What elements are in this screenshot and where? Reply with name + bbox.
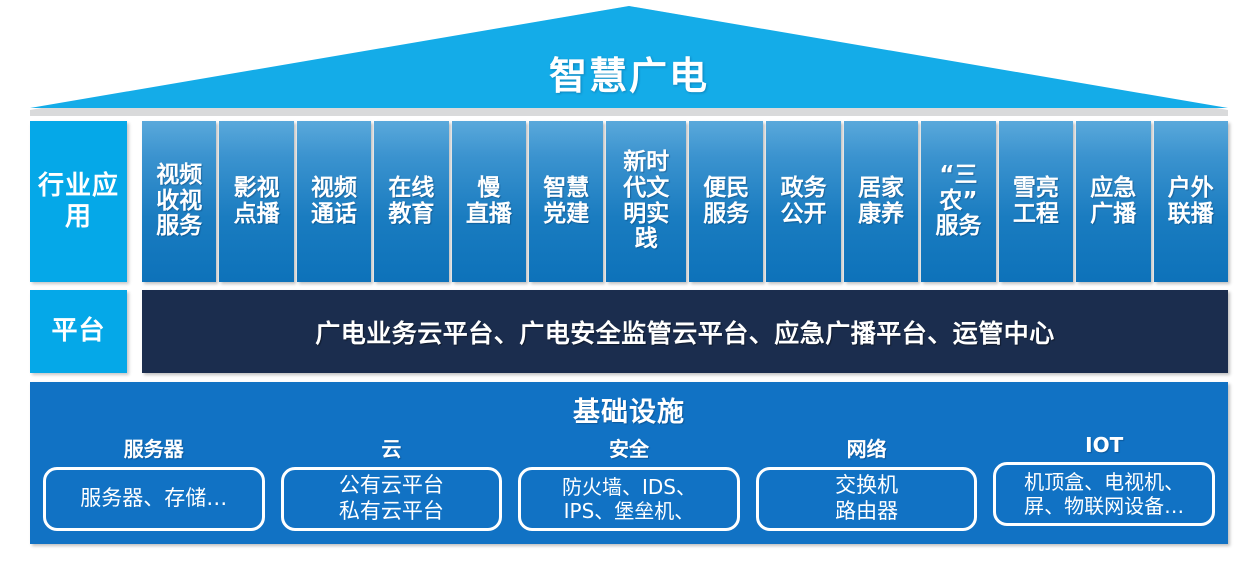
application-cell[interactable]: 在线教育: [374, 121, 448, 282]
applications-row: 行业应用 视频收视服务影视点播视频通话在线教育慢直播智慧党建新时代文明实践便民服…: [30, 121, 1228, 282]
platform-content: 广电业务云平台、广电安全监管云平台、应急广播平台、运管中心: [142, 290, 1228, 373]
architecture-diagram: 智慧广电 行业应用 视频收视服务影视点播视频通话在线教育慢直播智慧党建新时代文明…: [0, 0, 1258, 561]
application-cell[interactable]: 影视点播: [219, 121, 293, 282]
roof-title: 智慧广电: [30, 56, 1228, 98]
roof-shape: 智慧广电: [30, 6, 1228, 116]
application-cell[interactable]: “三农”服务: [921, 121, 995, 282]
infrastructure-column-title: 云: [281, 433, 503, 462]
infrastructure-columns: 服务器服务器、存储…云公有云平台私有云平台安全防火墙、IDS、IPS、堡垒机、网…: [30, 429, 1228, 531]
application-cells: 视频收视服务影视点播视频通话在线教育慢直播智慧党建新时代文明实践便民服务政务公开…: [142, 121, 1228, 282]
infrastructure-column-title: IOT: [993, 433, 1215, 457]
infrastructure-panel: 基础设施 服务器服务器、存储…云公有云平台私有云平台安全防火墙、IDS、IPS、…: [30, 382, 1228, 544]
infrastructure-column: IOT机顶盒、电视机、屏、物联网设备…: [993, 433, 1215, 526]
platform-row-label: 平台: [30, 290, 127, 373]
infrastructure-box[interactable]: 公有云平台私有云平台: [281, 467, 503, 531]
application-cell[interactable]: 慢直播: [452, 121, 526, 282]
application-cell[interactable]: 新时代文明实践: [606, 121, 686, 282]
platform-row: 平台 广电业务云平台、广电安全监管云平台、应急广播平台、运管中心: [30, 290, 1228, 373]
infrastructure-column-title: 服务器: [43, 433, 265, 462]
infrastructure-title: 基础设施: [30, 382, 1228, 429]
infrastructure-box[interactable]: 防火墙、IDS、IPS、堡垒机、: [518, 467, 740, 531]
infrastructure-column: 服务器服务器、存储…: [43, 433, 265, 531]
infrastructure-column: 云公有云平台私有云平台: [281, 433, 503, 531]
infrastructure-column-title: 安全: [518, 433, 740, 462]
application-cell[interactable]: 雪亮工程: [999, 121, 1073, 282]
application-cell[interactable]: 户外联播: [1154, 121, 1228, 282]
infrastructure-box[interactable]: 机顶盒、电视机、屏、物联网设备…: [993, 462, 1215, 526]
application-cell[interactable]: 居家康养: [844, 121, 918, 282]
infrastructure-column: 网络交换机路由器: [756, 433, 978, 531]
applications-row-label: 行业应用: [30, 121, 127, 282]
infrastructure-box[interactable]: 服务器、存储…: [43, 467, 265, 531]
infrastructure-column: 安全防火墙、IDS、IPS、堡垒机、: [518, 433, 740, 531]
application-cell[interactable]: 应急广播: [1076, 121, 1150, 282]
application-cell[interactable]: 视频收视服务: [142, 121, 216, 282]
application-cell[interactable]: 视频通话: [297, 121, 371, 282]
application-cell[interactable]: 智慧党建: [529, 121, 603, 282]
infrastructure-box[interactable]: 交换机路由器: [756, 467, 978, 531]
application-cell[interactable]: 便民服务: [689, 121, 763, 282]
infrastructure-column-title: 网络: [756, 433, 978, 462]
application-cell[interactable]: 政务公开: [766, 121, 840, 282]
